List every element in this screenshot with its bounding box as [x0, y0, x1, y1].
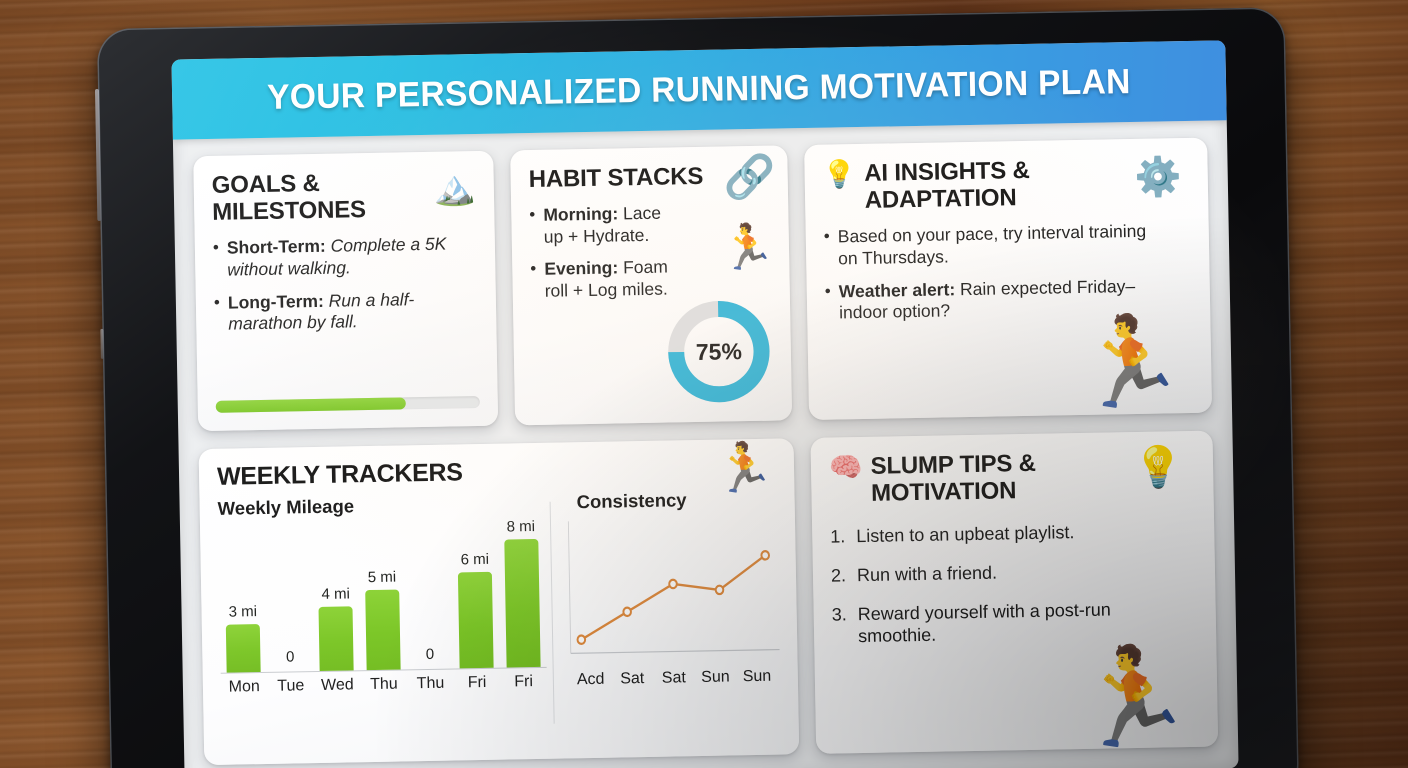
- page-title: YOUR PERSONALIZED RUNNING MOTIVATION PLA…: [267, 62, 1131, 118]
- list-item: Morning: Lace up + Hydrate.: [529, 203, 672, 249]
- list-item: 3.Reward yourself with a post-run smooth…: [832, 597, 1163, 648]
- desk-background: YOUR PERSONALIZED RUNNING MOTIVATION PLA…: [0, 0, 1408, 768]
- bar-value-label: 3 mi: [229, 603, 258, 621]
- card-title-ai: AI INSIGHTS & ADAPTATION: [864, 155, 1137, 214]
- bar-column: 4 mi: [311, 519, 360, 671]
- chain-link-icon: 🔗: [723, 156, 776, 199]
- line-x-tick: Sun: [694, 668, 736, 687]
- weekly-mileage-chart[interactable]: Weekly Mileage 3 mi04 mi5 mi06 mi8 mi Mo…: [217, 486, 548, 748]
- runner-icon: 🏃: [1073, 649, 1194, 747]
- line-chart-plot: [563, 512, 782, 668]
- ai-insight-body: Based on your pace, try interval trainin…: [838, 221, 1147, 268]
- bar-chart-plot: 3 mi04 mi5 mi06 mi8 mi: [218, 516, 547, 674]
- bar-chart-title: Weekly Mileage: [217, 492, 543, 520]
- line-chart-title: Consistency: [576, 488, 778, 514]
- card-goals-milestones[interactable]: GOALS & MILESTONES 🏔️ Short-Term: Comple…: [193, 151, 498, 431]
- tip-text: Listen to an upbeat playlist.: [856, 522, 1074, 546]
- tip-number: 2.: [831, 564, 846, 587]
- chart-divider: [550, 502, 555, 724]
- bar-x-tick: Thu: [407, 675, 454, 694]
- runner-icon: 🏃: [1075, 317, 1186, 407]
- list-item: Short-Term: Complete a 5K without walkin…: [213, 234, 459, 282]
- lightbulb-icon: 💡: [822, 160, 856, 189]
- bar: [226, 624, 261, 673]
- line-data-point: [669, 580, 677, 589]
- tablet-screen: YOUR PERSONALIZED RUNNING MOTIVATION PLA…: [171, 40, 1238, 768]
- bar-column: 0: [404, 518, 453, 670]
- line-x-tick: Sun: [736, 668, 778, 687]
- tip-text: Run with a friend.: [857, 562, 997, 585]
- bar-column: 0: [264, 520, 313, 672]
- card-ai-insights[interactable]: 💡 AI INSIGHTS & ADAPTATION ⚙️ 🏃 Based on…: [804, 138, 1212, 420]
- bar-x-tick: Wed: [314, 676, 361, 695]
- card-title-goals: GOALS & MILESTONES: [211, 168, 407, 226]
- gear-icon[interactable]: ⚙️: [1134, 158, 1182, 197]
- habit-evening-lead: Evening:: [544, 258, 618, 279]
- bar-chart-x-axis: MonTueWedThuThuFriFri: [221, 673, 547, 697]
- list-item: Evening: Foam roll + Log miles.: [530, 257, 673, 303]
- lightbulb-icon: 💡: [1133, 447, 1184, 488]
- goals-progress-bar: [216, 396, 480, 413]
- bar-value-label: 0: [286, 648, 295, 665]
- line-data-point: [761, 551, 769, 560]
- line-data-point: [716, 586, 724, 595]
- brain-icon: 🧠: [829, 453, 863, 482]
- bar-value-label: 8 mi: [506, 518, 535, 536]
- bar: [504, 539, 540, 668]
- slump-tips-list: 1.Listen to an upbeat playlist.2.Run wit…: [830, 520, 1162, 649]
- dashboard-board: GOALS & MILESTONES 🏔️ Short-Term: Comple…: [173, 120, 1239, 768]
- list-item: Long-Term: Run a half-marathon by fall.: [214, 288, 460, 336]
- tip-text: Reward yourself with a post-run smoothie…: [858, 599, 1111, 646]
- runner-icon: 🏃: [720, 226, 776, 271]
- bar: [319, 606, 354, 671]
- card-weekly-trackers[interactable]: WEEKLY TRACKERS 🏃 Weekly Mileage 3 mi04 …: [199, 438, 800, 765]
- bar-column: 5 mi: [358, 518, 407, 670]
- habit-bullet-list: Morning: Lace up + Hydrate. Evening: Foa…: [529, 203, 673, 303]
- bar-x-tick: Tue: [267, 677, 314, 696]
- donut-percent-label: 75%: [662, 295, 776, 409]
- ai-weather-lead: Weather alert:: [839, 279, 956, 301]
- line-x-tick: Acd: [570, 671, 612, 690]
- bar-x-tick: Fri: [454, 674, 501, 693]
- line-chart-y-axis: [568, 521, 570, 653]
- tip-number: 1.: [830, 526, 845, 549]
- line-chart-x-axis: AcdSatSatSunSun: [566, 668, 782, 690]
- charts-area: Weekly Mileage 3 mi04 mi5 mi06 mi8 mi Mo…: [217, 482, 783, 748]
- tablet-device: YOUR PERSONALIZED RUNNING MOTIVATION PLA…: [97, 7, 1299, 768]
- line-x-tick: Sat: [653, 669, 695, 688]
- bar-value-label: 6 mi: [460, 551, 489, 569]
- line-chart-baseline: [571, 650, 780, 654]
- line-series-path: [580, 555, 767, 639]
- card-title-habit: HABIT STACKS: [528, 163, 707, 193]
- bar-value-label: 5 mi: [368, 569, 397, 587]
- list-item: Based on your pace, try interval trainin…: [824, 221, 1155, 270]
- mountain-icon: 🏔️: [433, 171, 476, 206]
- bar-x-tick: Mon: [221, 678, 268, 697]
- tip-number: 3.: [832, 603, 847, 626]
- goals-progress-fill: [216, 397, 406, 412]
- card-title-slump: SLUMP TIPS & MOTIVATION: [870, 448, 1142, 507]
- line-data-point: [577, 635, 585, 644]
- bar-x-tick: Fri: [500, 673, 547, 692]
- goals-bullet-list: Short-Term: Complete a 5K without walkin…: [213, 234, 460, 336]
- goal-short-term-lead: Short-Term:: [227, 236, 326, 258]
- goal-long-term-lead: Long-Term:: [228, 290, 324, 312]
- card-slump-tips[interactable]: 🧠 SLUMP TIPS & MOTIVATION 💡 🏃 1.Listen t…: [810, 431, 1218, 754]
- ai-bullet-list: Based on your pace, try interval trainin…: [824, 221, 1156, 325]
- bar-x-tick: Thu: [361, 675, 408, 694]
- list-item: Weather alert: Rain expected Friday–indo…: [825, 275, 1156, 324]
- habit-completion-donut: 75%: [662, 295, 776, 409]
- dashboard-row-bottom: WEEKLY TRACKERS 🏃 Weekly Mileage 3 mi04 …: [199, 431, 1219, 766]
- bar-value-label: 0: [426, 646, 435, 663]
- consistency-chart[interactable]: Consistency AcdSatSatSunSun: [562, 482, 783, 742]
- line-x-tick: Sat: [611, 670, 653, 689]
- bar: [365, 590, 400, 671]
- line-data-point: [623, 608, 631, 617]
- dashboard-row-top: GOALS & MILESTONES 🏔️ Short-Term: Comple…: [193, 138, 1212, 432]
- list-item: 2.Run with a friend.: [831, 558, 1161, 587]
- bar-column: 6 mi: [451, 517, 500, 669]
- bar-value-label: 4 mi: [321, 585, 350, 603]
- list-item: 1.Listen to an upbeat playlist.: [830, 520, 1160, 549]
- bar: [458, 572, 494, 669]
- bar-column: 3 mi: [218, 521, 267, 673]
- habit-morning-lead: Morning:: [543, 204, 618, 225]
- bar-column: 8 mi: [497, 516, 546, 668]
- card-habit-stacks[interactable]: HABIT STACKS 🔗 🏃 Morning: Lace up + Hydr…: [510, 145, 792, 425]
